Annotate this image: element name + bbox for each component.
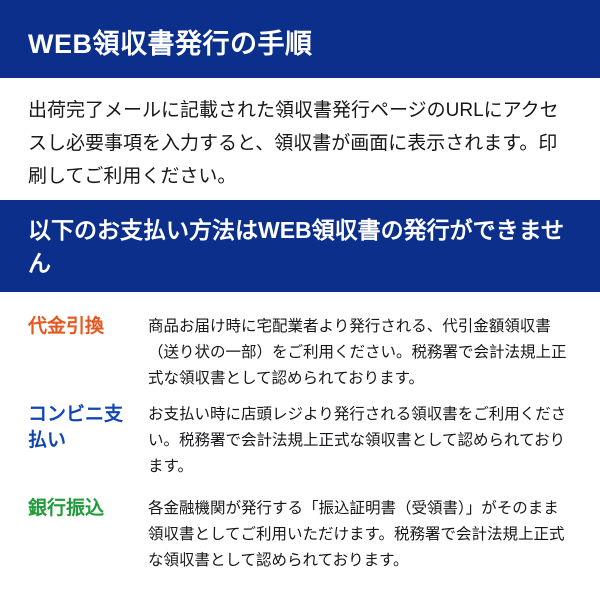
page-title: WEB領収書発行の手順 <box>28 22 313 61</box>
title-band: WEB領収書発行の手順 <box>0 0 600 78</box>
method-label-bank-transfer: 銀行振込 <box>28 496 140 522</box>
payment-methods-list: 代金引換 商品お届け時に宅配業者より発行される、代引金額領収書（送り状の一部）を… <box>0 292 600 600</box>
method-description-bank-transfer: 各金融機関が発行する「振込証明書（受領書）」がそのまま領収書としてご利用いただけ… <box>148 496 572 574</box>
subtitle-band: 以下のお支払い方法はWEB領収書の発行ができません <box>0 200 600 292</box>
receipt-guide-page: WEB領収書発行の手順 出荷完了メールに記載された領収書発行ページのURLにアク… <box>0 0 600 600</box>
intro-section: 出荷完了メールに記載された領収書発行ページのURLにアクセスし必要事項を入力する… <box>0 78 600 200</box>
method-label-convenience-store: コンビニ支払い <box>28 402 140 454</box>
subtitle-text: 以下のお支払い方法はWEB領収書の発行ができません <box>28 214 576 280</box>
method-description-convenience-store: お支払い時に店頭レジより発行される領収書をご利用ください。税務署で会計法規上正式… <box>148 402 572 480</box>
method-description-cash-on-delivery: 商品お届け時に宅配業者より発行される、代引金額領収書（送り状の一部）をご利用くだ… <box>148 314 572 392</box>
intro-paragraph: 出荷完了メールに記載された領収書発行ページのURLにアクセスし必要事項を入力する… <box>28 94 574 193</box>
method-label-cash-on-delivery: 代金引換 <box>28 314 140 340</box>
